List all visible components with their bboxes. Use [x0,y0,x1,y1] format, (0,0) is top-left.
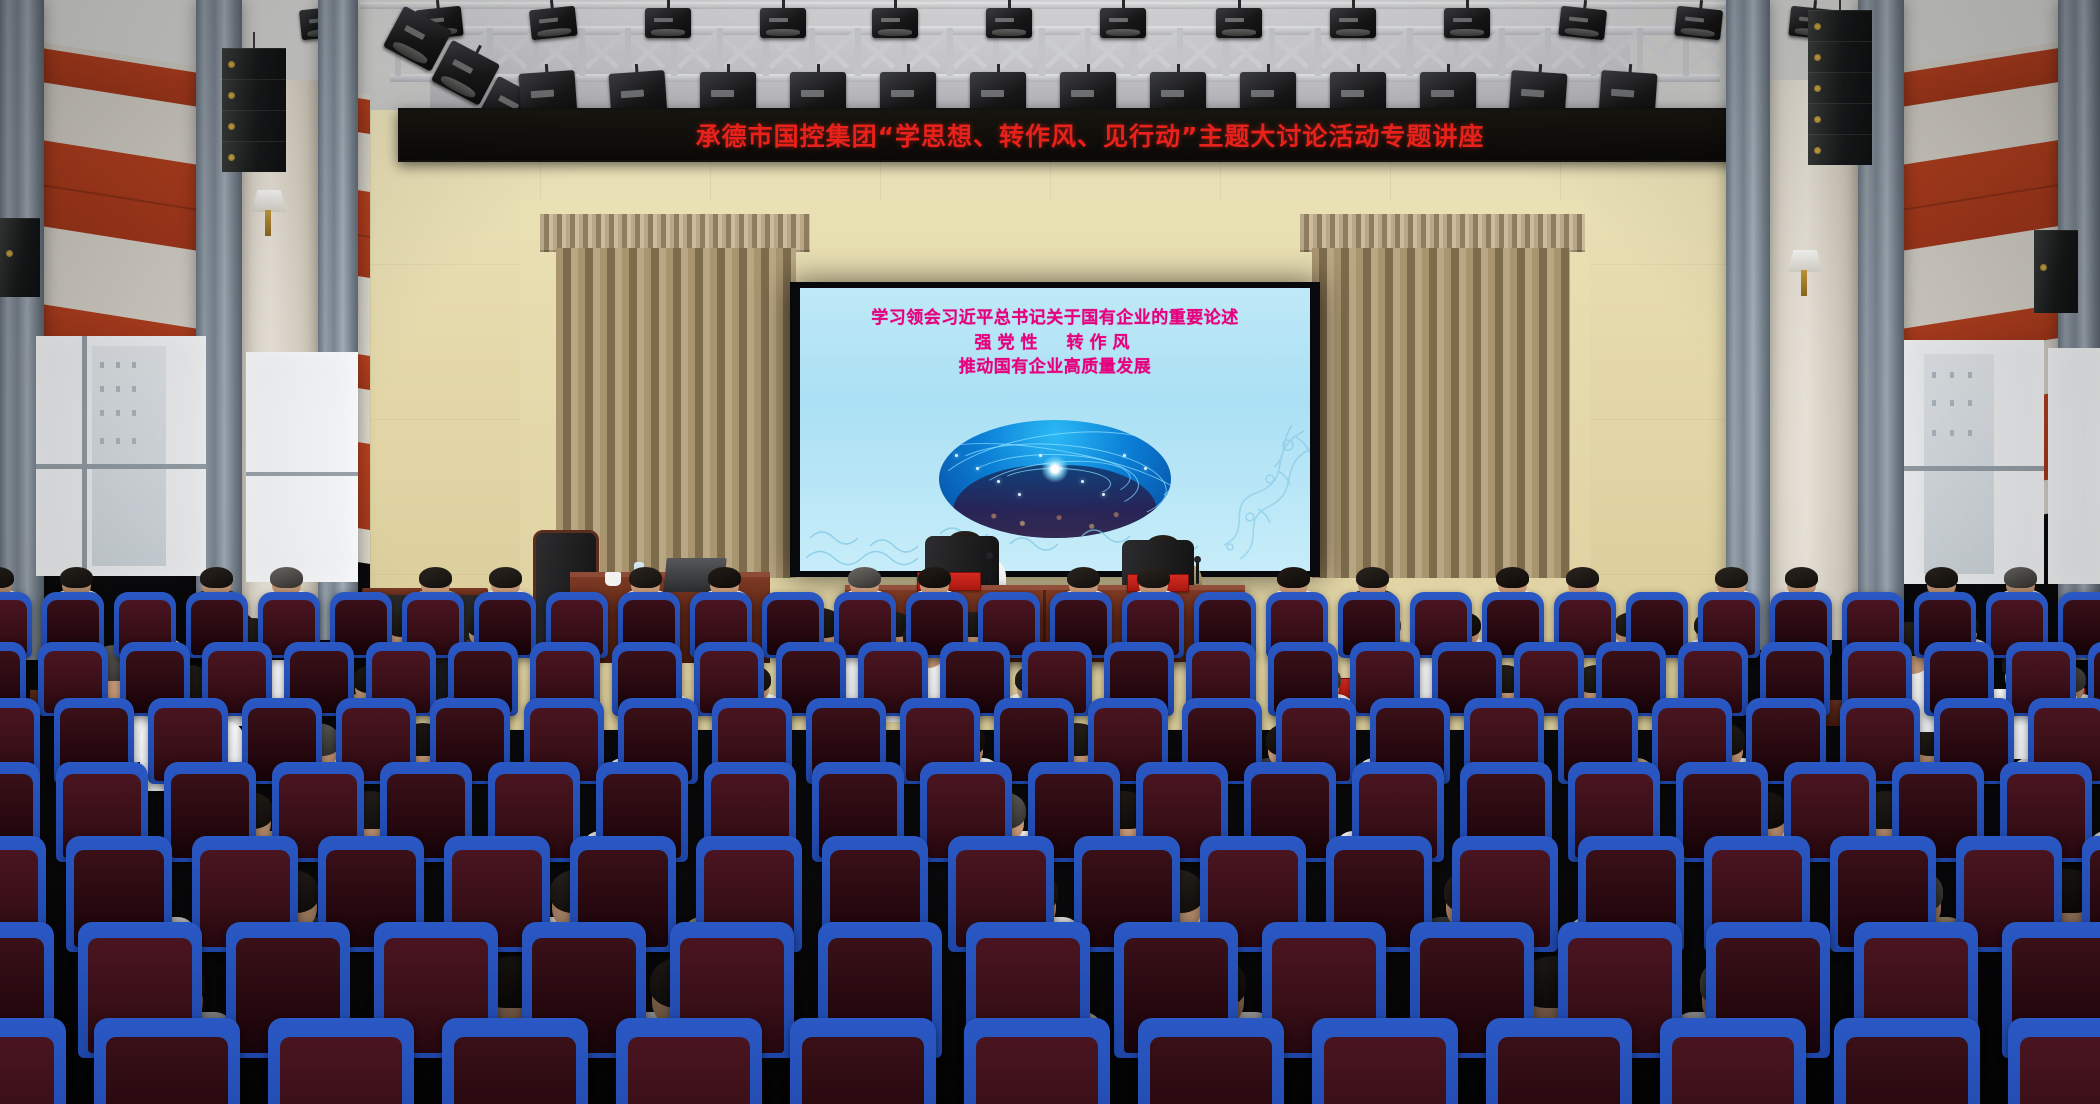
right-wall-sconce [1788,250,1828,300]
slide-wave-pattern [800,288,1310,571]
sconce-arm [1801,270,1807,296]
stage-light-label [1453,18,1471,22]
auditorium-seat[interactable] [94,1018,240,1104]
stage-light-body [645,8,691,38]
stage-light-label [1431,90,1453,97]
auditorium-seat[interactable] [0,1018,66,1104]
window-mullion [246,472,358,476]
stage-light-lens [1565,28,1599,38]
stage-light [986,0,1032,40]
attendee-hair [1067,567,1100,588]
speaker-module [222,79,286,110]
stage-light-label [801,90,823,97]
attendee-hair [270,567,303,588]
stage-light-label [1109,18,1127,22]
right-drape-a [1726,0,1770,650]
speaker-module [222,110,286,141]
stage-light-label [539,18,558,24]
stage-light-body [529,6,578,41]
curtain-valance-left [540,214,810,252]
sconce-shade [252,190,286,212]
attendee-hair [2004,567,2037,588]
auditorium-seat[interactable] [1660,1018,1806,1104]
stage-light-body [1444,8,1490,38]
stage-curtain-left [556,248,796,578]
attendee-hair [1715,567,1748,588]
stage-light-label [1341,90,1363,97]
auditorium-seat[interactable] [1834,1018,1980,1104]
stage-light-label [995,18,1013,22]
window-mullion [1904,466,2044,471]
stage-light-body [1330,8,1376,38]
stage-light-label [1161,90,1183,97]
stage-light [1100,0,1146,40]
curtain-valance-right [1300,214,1585,252]
stage-light-label [1611,89,1634,98]
exterior-building [1924,354,1994,574]
speaker-module [1808,10,1872,41]
speaker-module [1808,103,1872,134]
stage-light-lens [538,28,572,38]
stage-light-label [1569,17,1588,23]
stage-light-lens [1222,29,1255,36]
stage-light [872,0,918,40]
stage-light-label [531,89,554,98]
attendee-hair [1137,567,1170,588]
attendee-hair [848,567,881,588]
auditorium-seat[interactable] [1486,1018,1632,1104]
exterior-building [92,346,166,566]
speaker-module [1808,41,1872,72]
speaker-module [1808,134,1872,165]
auditorium-seat[interactable] [1138,1018,1284,1104]
microphone-right [1196,560,1199,584]
stage-light-body [1100,8,1146,38]
stage-light-lens [1106,29,1139,36]
stage-light-body [1216,8,1262,38]
speaker-module [1808,72,1872,103]
speaker-module [222,48,286,79]
tea-cup [605,572,621,586]
stage-light [645,0,691,40]
attendee-hair [918,567,951,588]
attendee-hair [419,567,452,588]
attendee-hair [60,567,93,588]
auditorium-seat[interactable] [2008,1018,2100,1104]
stage-light [1216,0,1262,40]
stage-light-label [1225,18,1243,22]
stage-light-label [621,89,644,98]
stage-light [1558,0,1608,42]
attendee-hair [200,567,233,588]
right-window-a [1904,340,2044,584]
stage-light-label [881,18,899,22]
left-wall-sconce [252,190,292,240]
stage-light-label [654,18,672,22]
attendee-hair [1496,567,1529,588]
left-window-a [36,336,206,576]
stage-light-body [1558,6,1607,41]
auditorium-seat[interactable] [268,1018,414,1104]
stage-light-label [1521,89,1544,98]
stage-light-lens [992,29,1025,36]
auditorium-seat[interactable] [442,1018,588,1104]
auditorium-photo: 承德市国控集团“学思想、转作风、见行动”主题大讨论活动专题讲座 学习领会习近平总… [0,0,2100,1104]
stage-light-label [711,90,733,97]
right-window-b [2048,348,2100,584]
stage-light-label [1339,18,1357,22]
stage-light [1330,0,1376,40]
attendee-hair [489,567,522,588]
auditorium-seat[interactable] [616,1018,762,1104]
projection-screen: 学习领会习近平总书记关于国有企业的重要论述 强党性 转作风 推动国有企业高质量发… [800,288,1310,571]
sconce-arm [265,210,271,236]
stage-light-body [760,8,806,38]
stage-light-lens [878,29,911,36]
attendee-hair [1785,567,1818,588]
attendee-hair [1925,567,1958,588]
stage-light-label [769,18,787,22]
stage-light-label [1251,90,1273,97]
attendee-hair [629,567,662,588]
stage-light-lens [766,29,799,36]
stage-light-label [891,90,913,97]
window-mullion [36,464,206,469]
attendee-hair [1566,567,1599,588]
attendee-hair [1356,567,1389,588]
sconce-shade [1788,250,1822,272]
microphone-left [988,556,991,582]
speaker-module [2034,230,2078,313]
stage-curtain-right [1312,248,1570,578]
stage-light-lens [1336,29,1369,36]
stage-light-body [986,8,1032,38]
banner-text: 承德市国控集团“学思想、转作风、见行动”主题大讨论活动专题讲座 [696,117,1485,153]
auditorium-seat[interactable] [964,1018,1110,1104]
stage-light-lens [651,29,684,36]
stage-light [760,0,806,40]
truss-main-chord [390,26,1720,35]
stage-light [528,0,578,42]
window-mullion [82,336,87,576]
auditorium-seat[interactable] [1312,1018,1458,1104]
left-window-b [246,352,358,582]
auditorium-seat[interactable] [790,1018,936,1104]
attendee-hair [708,567,741,588]
speaker-module [222,141,286,172]
stage-light-label [452,59,474,75]
speaker-module [0,218,40,297]
stage-light-lens [1450,29,1483,36]
attendee-hair [1277,567,1310,588]
stage-light-body [872,8,918,38]
stage-light-label [1071,90,1093,97]
stage-light-label [981,90,1003,97]
stage-light-label [404,25,426,41]
stage-light [1444,0,1490,40]
audience-seating [0,600,2100,1104]
event-banner: 承德市国控集团“学思想、转作风、见行动”主题大讨论活动专题讲座 [398,108,1782,162]
